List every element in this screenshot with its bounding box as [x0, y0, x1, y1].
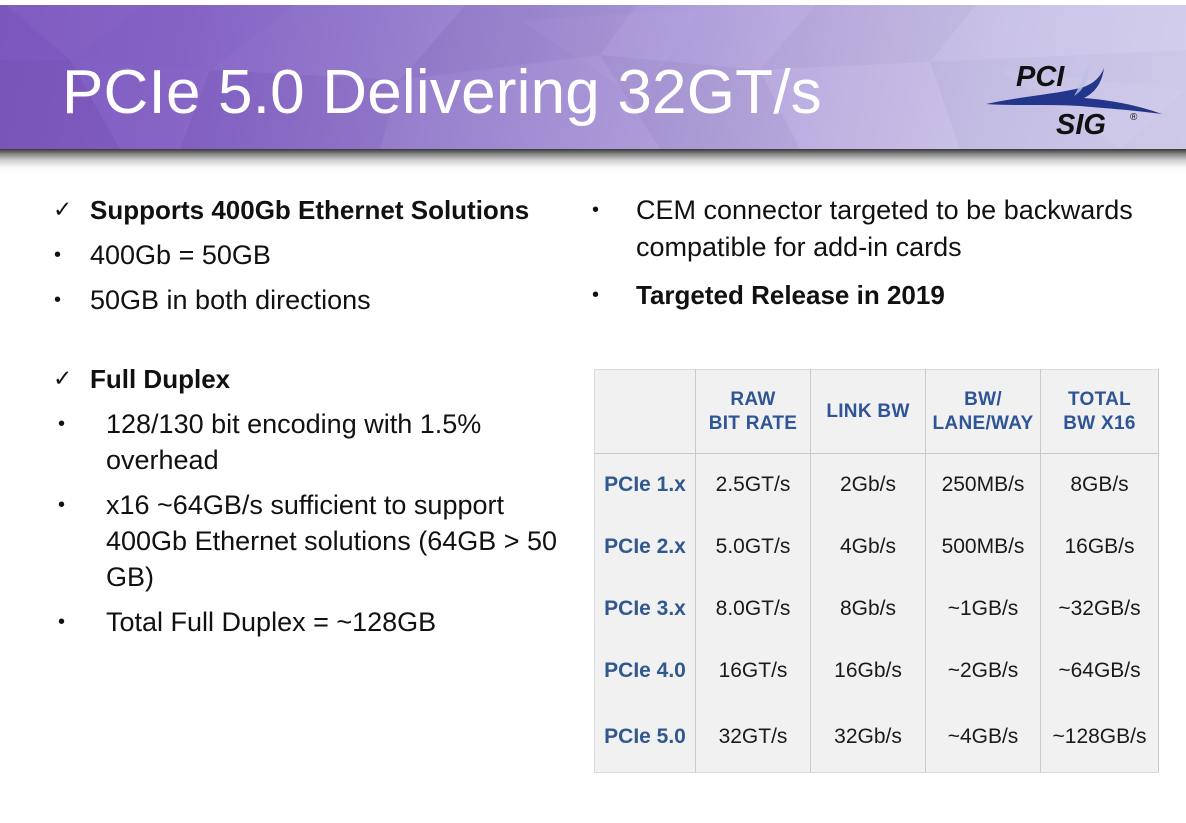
table-header-cell-link-bw: LINK BW — [811, 370, 926, 454]
table-cell-raw-bit-rate: 5.0GT/s — [696, 516, 811, 578]
list-item-label: x16 ~64GB/s sufficient to support 400Gb … — [106, 487, 564, 595]
table-header-cell-raw-bit-rate: RAW BIT RATE — [696, 370, 811, 454]
table-cell-raw-bit-rate: 16GT/s — [696, 640, 811, 702]
banner-top-hairline — [0, 0, 1186, 5]
list-item: • 128/130 bit encoding with 1.5% overhea… — [44, 406, 564, 478]
list-item-label: 50GB in both directions — [90, 282, 564, 318]
list-item-label: 400Gb = 50GB — [90, 237, 564, 273]
table-cell-label: PCIe 5.0 — [595, 702, 696, 773]
spacer — [44, 327, 564, 361]
bullet-dot-icon: • — [44, 604, 106, 640]
checkmark-icon: ✓ — [44, 192, 90, 226]
list-item: • x16 ~64GB/s sufficient to support 400G… — [44, 487, 564, 595]
table-header-cell-total-bw-x16: TOTAL BW X16 — [1041, 370, 1159, 454]
logo-swoosh-icon — [986, 68, 1162, 114]
header-line-1: RAW — [696, 388, 810, 412]
list-item-label: Supports 400Gb Ethernet Solutions — [90, 192, 564, 228]
header-line-1: LINK BW — [811, 400, 925, 424]
table-cell-link-bw: 8Gb/s — [811, 578, 926, 640]
logo-pci-text: PCI — [1016, 61, 1065, 93]
table-row: PCIe 4.0 16GT/s 16Gb/s ~2GB/s ~64GB/s — [595, 640, 1159, 702]
table-cell-label: PCIe 3.x — [595, 578, 696, 640]
logo-sig-text: SIG — [1056, 109, 1106, 141]
table-cell-total-bw-x16: ~32GB/s — [1041, 578, 1159, 640]
table-header-cell-blank — [595, 370, 696, 454]
table-row: PCIe 1.x 2.5GT/s 2Gb/s 250MB/s 8GB/s — [595, 454, 1159, 517]
bullet-dot-icon: • — [44, 487, 106, 523]
list-item-label: CEM connector targeted to be backwards c… — [636, 192, 1168, 266]
logo-registered-mark: ® — [1130, 112, 1138, 123]
table-cell-total-bw-x16: 16GB/s — [1041, 516, 1159, 578]
list-item: • CEM connector targeted to be backwards… — [578, 192, 1168, 266]
banner-drop-shadow — [0, 149, 1186, 173]
table-cell-raw-bit-rate: 32GT/s — [696, 702, 811, 773]
table-cell-link-bw: 4Gb/s — [811, 516, 926, 578]
bullet-dot-icon: • — [578, 192, 636, 228]
pci-sig-logo: PCI SIG ® — [984, 52, 1164, 144]
bullet-dot-icon: • — [578, 277, 636, 313]
bullet-dot-icon: • — [44, 282, 90, 318]
table-cell-bw-lane-way: ~1GB/s — [926, 578, 1041, 640]
header-line-2: BIT RATE — [696, 412, 810, 436]
right-bullet-column: • CEM connector targeted to be backwards… — [578, 192, 1168, 325]
header-line-2: LANE/WAY — [926, 412, 1040, 436]
list-item: • Targeted Release in 2019 — [578, 277, 1168, 314]
table-cell-bw-lane-way: 500MB/s — [926, 516, 1041, 578]
pcie-spec-table-container: RAW BIT RATE LINK BW BW/ LANE/WAY TOTAL … — [594, 369, 1158, 773]
header-line-2: BW X16 — [1041, 412, 1158, 436]
table-cell-bw-lane-way: 250MB/s — [926, 454, 1041, 517]
table-cell-bw-lane-way: ~4GB/s — [926, 702, 1041, 773]
table-header-row: RAW BIT RATE LINK BW BW/ LANE/WAY TOTAL … — [595, 370, 1159, 454]
table-cell-link-bw: 16Gb/s — [811, 640, 926, 702]
header-line-1: TOTAL — [1041, 388, 1158, 412]
table-cell-link-bw: 32Gb/s — [811, 702, 926, 773]
list-item: • 400Gb = 50GB — [44, 237, 564, 273]
table-cell-label: PCIe 1.x — [595, 454, 696, 517]
table-cell-raw-bit-rate: 2.5GT/s — [696, 454, 811, 517]
checkmark-icon: ✓ — [44, 361, 90, 395]
table-row: PCIe 5.0 32GT/s 32Gb/s ~4GB/s ~128GB/s — [595, 702, 1159, 773]
table-cell-total-bw-x16: ~128GB/s — [1041, 702, 1159, 773]
table-cell-bw-lane-way: ~2GB/s — [926, 640, 1041, 702]
slide-header-banner: PCIe 5.0 Delivering 32GT/s PCI SIG ® — [0, 0, 1186, 149]
table-cell-link-bw: 2Gb/s — [811, 454, 926, 517]
table-cell-label: PCIe 4.0 — [595, 640, 696, 702]
page-title: PCIe 5.0 Delivering 32GT/s — [62, 62, 822, 124]
list-item: ✓ Full Duplex — [44, 361, 564, 397]
bullet-dot-icon: • — [44, 237, 90, 273]
table-row: PCIe 3.x 8.0GT/s 8Gb/s ~1GB/s ~32GB/s — [595, 578, 1159, 640]
bullet-dot-icon: • — [44, 406, 106, 442]
list-item-label: Full Duplex — [90, 361, 564, 397]
table-cell-total-bw-x16: ~64GB/s — [1041, 640, 1159, 702]
list-item: • 50GB in both directions — [44, 282, 564, 318]
table-header-cell-bw-lane-way: BW/ LANE/WAY — [926, 370, 1041, 454]
list-item: • Total Full Duplex = ~128GB — [44, 604, 564, 640]
table-cell-label: PCIe 2.x — [595, 516, 696, 578]
list-item-label: Targeted Release in 2019 — [636, 277, 1168, 314]
list-item-label: 128/130 bit encoding with 1.5% overhead — [106, 406, 564, 478]
table-cell-total-bw-x16: 8GB/s — [1041, 454, 1159, 517]
header-line-1: BW/ — [926, 388, 1040, 412]
table-row: PCIe 2.x 5.0GT/s 4Gb/s 500MB/s 16GB/s — [595, 516, 1159, 578]
list-item-label: Total Full Duplex = ~128GB — [106, 604, 564, 640]
pcie-spec-table: RAW BIT RATE LINK BW BW/ LANE/WAY TOTAL … — [594, 369, 1159, 773]
left-bullet-column: ✓ Supports 400Gb Ethernet Solutions • 40… — [44, 192, 564, 649]
table-cell-raw-bit-rate: 8.0GT/s — [696, 578, 811, 640]
list-item: ✓ Supports 400Gb Ethernet Solutions — [44, 192, 564, 228]
